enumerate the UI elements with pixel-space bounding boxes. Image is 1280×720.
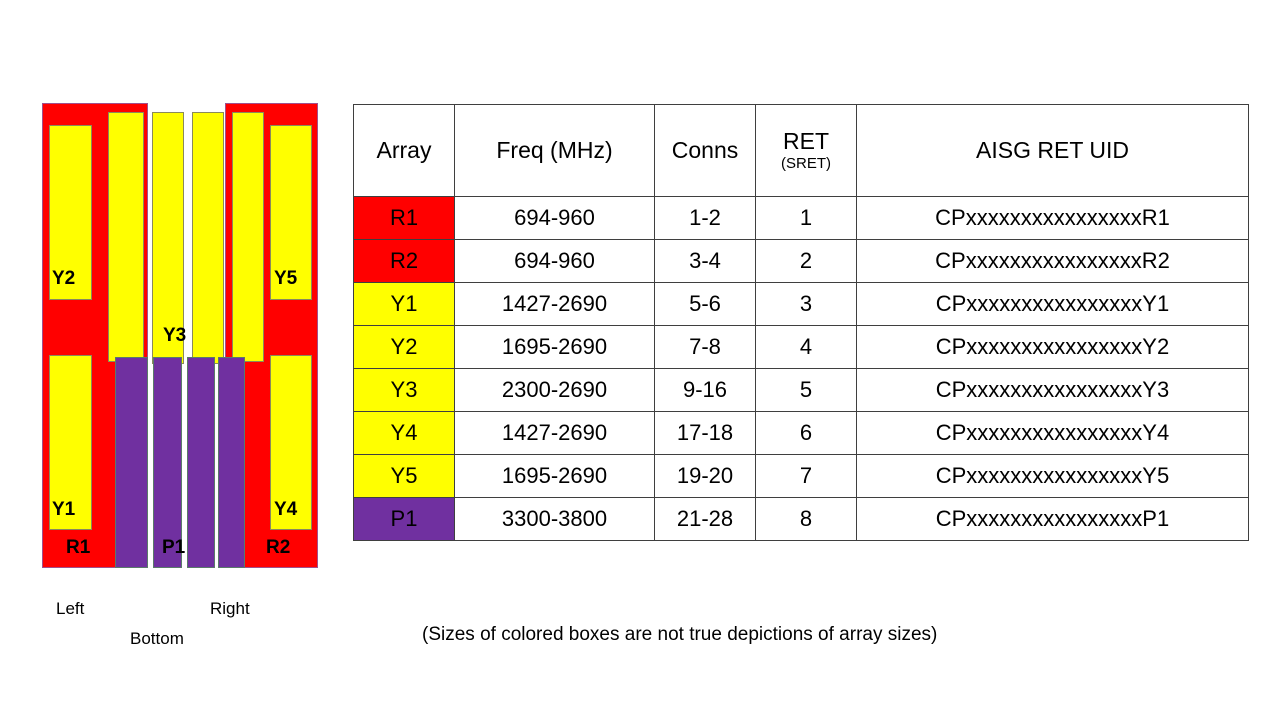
cell-array: Y5 [354,455,455,498]
diagram-label-r1: R1 [66,537,90,559]
cell-array: Y2 [354,326,455,369]
aisg-ret-uid-table: Array Freq (MHz) Conns RET (SRET) AISG R… [353,104,1249,541]
cell-conns: 17-18 [655,412,756,455]
column-header-uid: AISG RET UID [857,105,1249,197]
cell-array: P1 [354,498,455,541]
cell-conns: 3-4 [655,240,756,283]
cell-uid: CPxxxxxxxxxxxxxxxxY4 [857,412,1249,455]
cell-conns: 19-20 [655,455,756,498]
table-body: R1694-9601-21CPxxxxxxxxxxxxxxxxR1R2694-9… [354,197,1249,541]
table-row: R2694-9603-42CPxxxxxxxxxxxxxxxxR2 [354,240,1249,283]
cell-conns: 21-28 [655,498,756,541]
cell-uid: CPxxxxxxxxxxxxxxxxY1 [857,283,1249,326]
cell-uid: CPxxxxxxxxxxxxxxxxR2 [857,240,1249,283]
cell-ret: 1 [756,197,857,240]
cell-conns: 1-2 [655,197,756,240]
cell-freq: 2300-2690 [455,369,655,412]
purple-bar-1 [115,357,148,568]
cell-freq: 694-960 [455,240,655,283]
cell-ret: 7 [756,455,857,498]
table-row: Y11427-26905-63CPxxxxxxxxxxxxxxxxY1 [354,283,1249,326]
yellow-bar-upper-4 [232,112,264,362]
cell-ret: 3 [756,283,857,326]
cell-uid: CPxxxxxxxxxxxxxxxxY2 [857,326,1249,369]
table-row: R1694-9601-21CPxxxxxxxxxxxxxxxxR1 [354,197,1249,240]
figure-caption: (Sizes of colored boxes are not true dep… [422,624,937,646]
diagram-label-y3: Y3 [163,325,186,347]
cell-uid: CPxxxxxxxxxxxxxxxxY5 [857,455,1249,498]
cell-uid: CPxxxxxxxxxxxxxxxxR1 [857,197,1249,240]
yellow-bar-upper-1 [108,112,144,362]
cell-ret: 2 [756,240,857,283]
edge-label-right: Right [210,599,250,619]
cell-uid: CPxxxxxxxxxxxxxxxxY3 [857,369,1249,412]
cell-freq: 1695-2690 [455,326,655,369]
purple-bar-3 [187,357,215,568]
column-header-ret: RET (SRET) [756,105,857,197]
purple-bar-4 [218,357,245,568]
cell-freq: 694-960 [455,197,655,240]
table-row: Y41427-269017-186CPxxxxxxxxxxxxxxxxY4 [354,412,1249,455]
edge-label-bottom: Bottom [130,629,184,649]
cell-ret: 5 [756,369,857,412]
column-header-ret-sub: (SRET) [756,155,856,172]
cell-freq: 1427-2690 [455,283,655,326]
cell-array: R1 [354,197,455,240]
column-header-freq: Freq (MHz) [455,105,655,197]
column-header-ret-main: RET [756,129,856,154]
table-row: P13300-380021-288CPxxxxxxxxxxxxxxxxP1 [354,498,1249,541]
table-row: Y51695-269019-207CPxxxxxxxxxxxxxxxxY5 [354,455,1249,498]
diagram-label-y1: Y1 [52,499,75,521]
column-header-conns: Conns [655,105,756,197]
cell-ret: 4 [756,326,857,369]
diagram-label-y5: Y5 [274,268,297,290]
cell-freq: 1427-2690 [455,412,655,455]
cell-conns: 7-8 [655,326,756,369]
cell-conns: 5-6 [655,283,756,326]
cell-ret: 6 [756,412,857,455]
table-header-row: Array Freq (MHz) Conns RET (SRET) AISG R… [354,105,1249,197]
diagram-label-y2: Y2 [52,268,75,290]
cell-array: Y1 [354,283,455,326]
cell-conns: 9-16 [655,369,756,412]
diagram-label-p1: P1 [162,537,185,559]
cell-array: Y4 [354,412,455,455]
antenna-array-diagram: Y2 Y5 Y3 Y1 Y4 R1 P1 R2 [42,103,318,568]
cell-array: Y3 [354,369,455,412]
table-row: Y32300-26909-165CPxxxxxxxxxxxxxxxxY3 [354,369,1249,412]
column-header-array: Array [354,105,455,197]
diagram-label-r2: R2 [266,537,290,559]
yellow-bar-upper-3 [192,112,224,364]
cell-uid: CPxxxxxxxxxxxxxxxxP1 [857,498,1249,541]
cell-freq: 3300-3800 [455,498,655,541]
table-header: Array Freq (MHz) Conns RET (SRET) AISG R… [354,105,1249,197]
cell-freq: 1695-2690 [455,455,655,498]
diagram-label-y4: Y4 [274,499,297,521]
edge-label-left: Left [56,599,84,619]
cell-ret: 8 [756,498,857,541]
cell-array: R2 [354,240,455,283]
slide-canvas: Y2 Y5 Y3 Y1 Y4 R1 P1 R2 Left Right Botto… [0,0,1280,720]
table-row: Y21695-26907-84CPxxxxxxxxxxxxxxxxY2 [354,326,1249,369]
